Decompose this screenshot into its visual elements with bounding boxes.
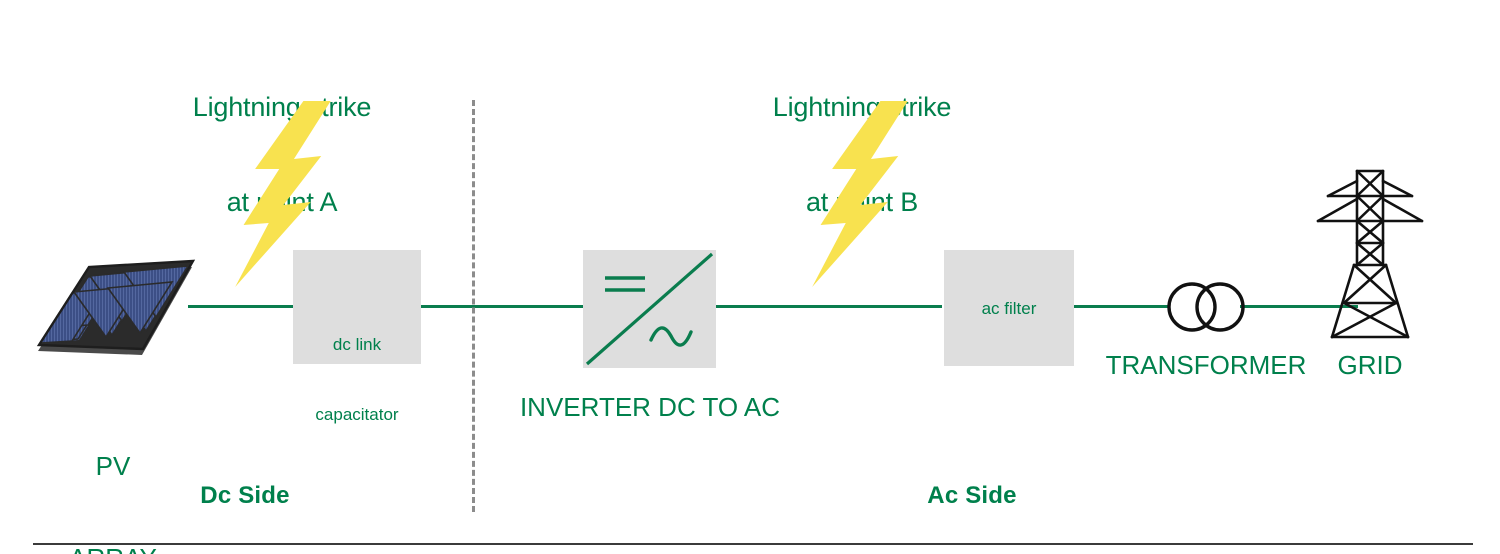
- dc-ac-divider: [472, 100, 475, 512]
- wire-filter-to-transformer: [1073, 305, 1171, 308]
- pv-array-label-line1: PV: [28, 451, 198, 482]
- wire-inverter-to-filter: [716, 305, 942, 308]
- solar-panel-icon: [36, 255, 196, 360]
- dc-link-label-line1: dc link: [293, 333, 421, 356]
- ac-filter-label: ac filter: [944, 297, 1074, 320]
- transformer-coils-icon: [1165, 281, 1247, 333]
- inverter-icon: [583, 250, 716, 368]
- lightning-bolt-b: [801, 101, 913, 287]
- pv-array-label: PV ARRAY: [28, 390, 198, 554]
- dc-link-label-line2: capacitator: [293, 403, 421, 426]
- inverter-label: INVERTER DC TO AC: [519, 392, 781, 423]
- grid-tower: [1310, 165, 1430, 345]
- wire-pv-to-dclink: [188, 305, 294, 308]
- transformer-label: TRANSFORMER: [1090, 350, 1322, 381]
- bottom-divider-rule: [33, 543, 1473, 545]
- dc-link-capacitor-label: dc link capacitator: [293, 286, 421, 474]
- inverter-symbol: [583, 250, 716, 368]
- diagram-canvas: Lightning strike at point A Lightning st…: [0, 0, 1500, 554]
- grid-label: GRID: [1300, 350, 1440, 381]
- transmission-tower-icon: [1310, 165, 1430, 345]
- pv-array: [36, 255, 196, 360]
- wire-dclink-to-inverter: [420, 305, 583, 308]
- dc-side-label: Dc Side: [165, 482, 325, 510]
- ac-side-label: Ac Side: [892, 482, 1052, 510]
- lightning-bolt-icon: [801, 101, 913, 287]
- transformer-symbol: [1165, 281, 1247, 333]
